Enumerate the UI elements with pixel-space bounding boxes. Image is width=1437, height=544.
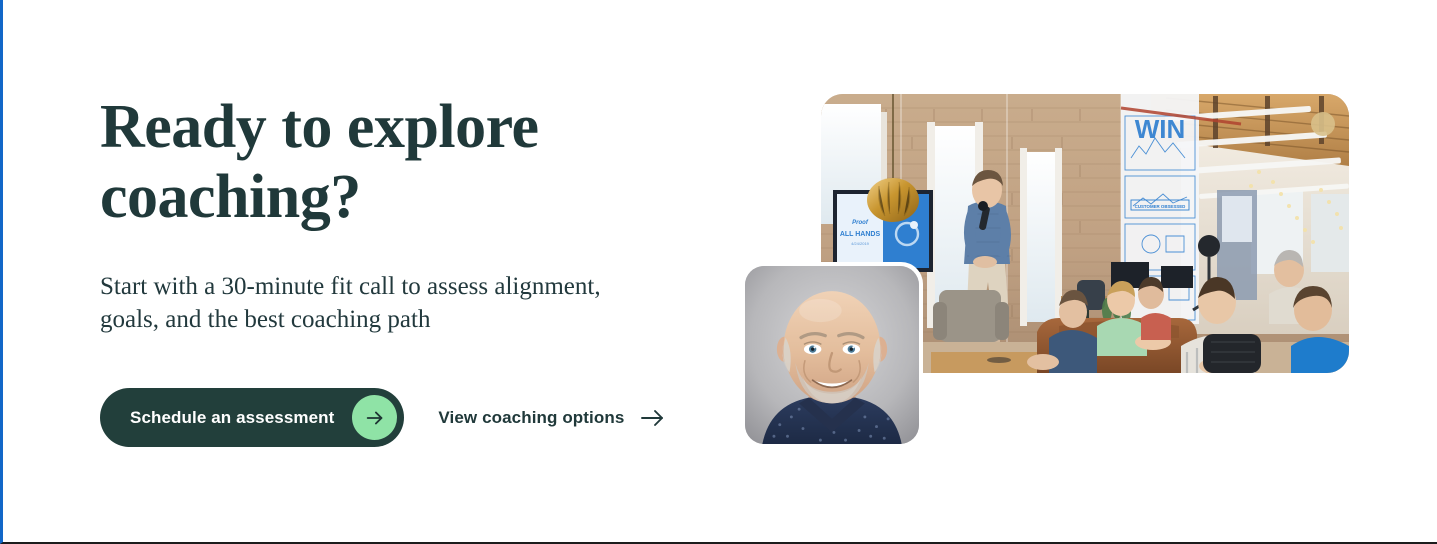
section-subhead: Start with a 30-minute fit call to asses…: [100, 270, 660, 336]
cta-copy-block: Ready to explore coaching? Start with a …: [100, 92, 720, 447]
schedule-an-assessment-button[interactable]: Schedule an assessment: [100, 388, 404, 447]
schedule-an-assessment-label: Schedule an assessment: [130, 408, 334, 428]
svg-text:Proof: Proof: [852, 220, 869, 226]
media-group: Proof ALL HANDS 4/24/2019: [821, 94, 1349, 373]
page-title: Ready to explore coaching?: [100, 92, 570, 232]
svg-text:ALL HANDS: ALL HANDS: [840, 231, 881, 238]
arrow-right-icon: [352, 395, 397, 440]
svg-text:CUSTOMER OBSESSED: CUSTOMER OBSESSED: [1135, 204, 1186, 209]
cta-button-row: Schedule an assessment View coaching opt…: [100, 388, 720, 447]
arrow-right-icon: [640, 407, 666, 429]
view-coaching-options-label: View coaching options: [438, 408, 624, 428]
svg-text:4/24/2019: 4/24/2019: [851, 241, 870, 246]
svg-text:WIN: WIN: [1135, 114, 1186, 144]
cta-section: Ready to explore coaching? Start with a …: [0, 0, 1437, 544]
view-coaching-options-link[interactable]: View coaching options: [436, 403, 668, 433]
avatar: [745, 266, 919, 444]
coach-headshot-card: [741, 262, 923, 448]
